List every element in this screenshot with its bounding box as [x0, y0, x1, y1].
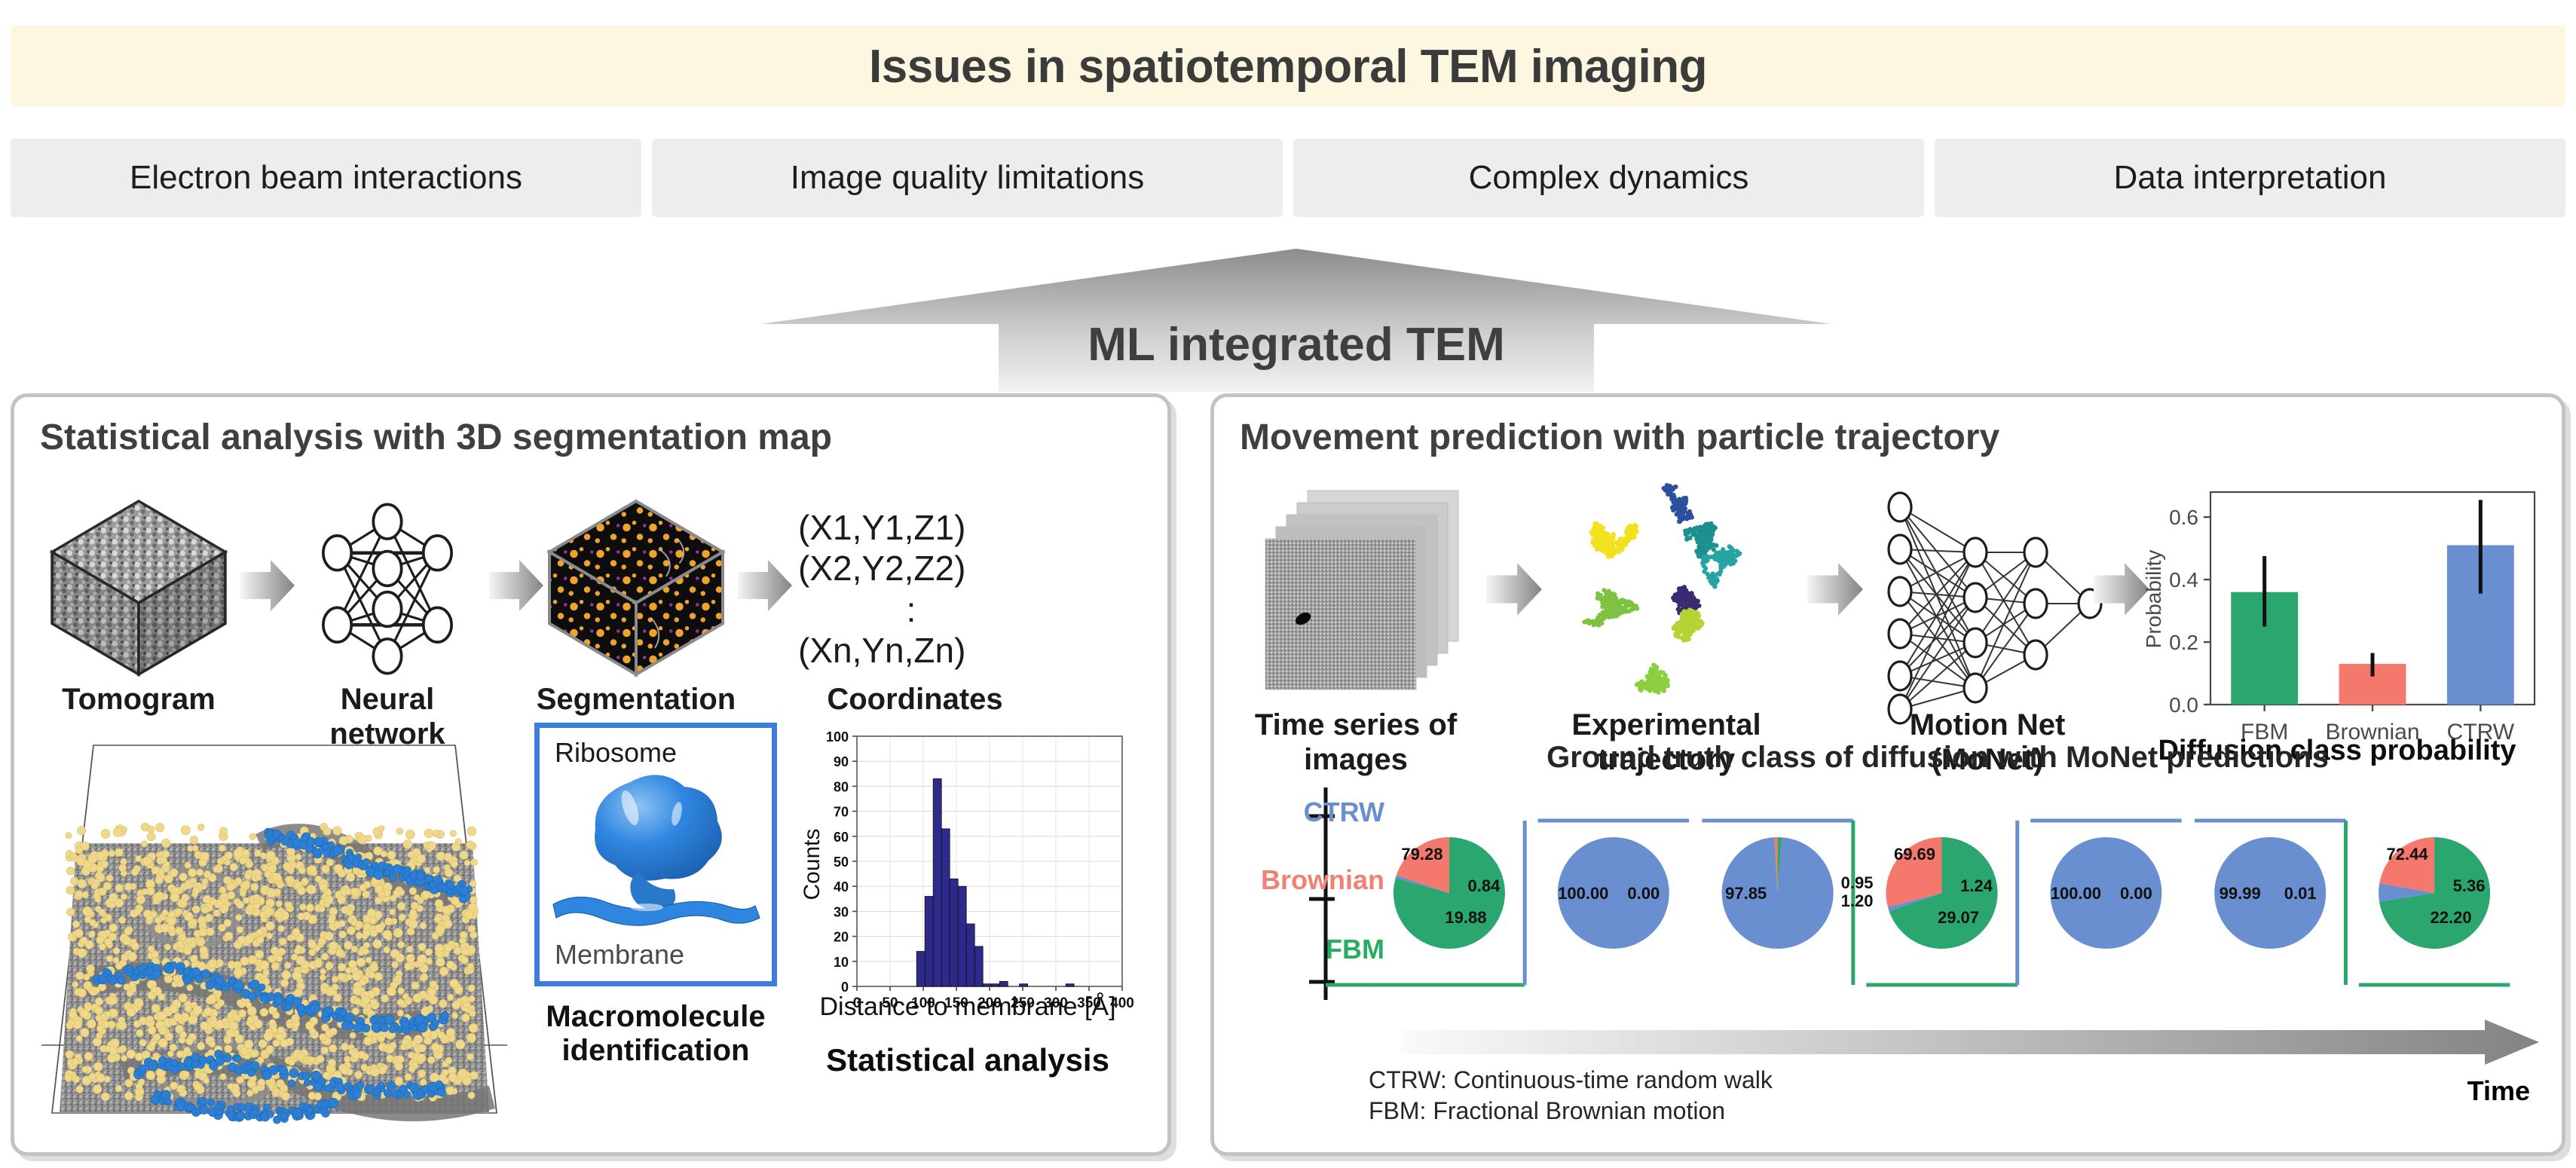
abbreviation-legend: CTRW: Continuous-time random walk FBM: F…: [1369, 1065, 1773, 1127]
issue-label: Image quality limitations: [791, 159, 1145, 197]
segmentation-cube-icon: [542, 494, 730, 682]
ribosome-inset-box: Ribosome: [534, 723, 777, 986]
3d-volume-render-icon: [37, 721, 512, 1143]
timeline-axis-label-brownian: Brownian: [1211, 864, 1384, 896]
svg-text:1.20: 1.20: [1841, 891, 1874, 910]
diffusion-class-probability-chart: 0.00.20.40.6 FBMBrownianCTRW Probability: [2128, 486, 2550, 757]
svg-text:72.44: 72.44: [2387, 845, 2429, 864]
svg-text:0.95: 0.95: [1841, 873, 1874, 892]
pipeline-label-coordinates: Coordinates: [791, 682, 1039, 717]
page-title: Issues in spatiotemporal TEM imaging: [869, 40, 1707, 93]
arrow-right-icon: [738, 557, 792, 614]
panel-statistical-analysis: Statistical analysis with 3D segmentatio…: [11, 393, 1171, 1156]
issue-label: Data interpretation: [2114, 159, 2387, 197]
issue-label: Electron beam interactions: [130, 159, 522, 197]
svg-text:90: 90: [834, 754, 849, 769]
issues-row: Electron beam interactions Image quality…: [11, 139, 2565, 217]
timeline-axis-label-fbm: FBM: [1211, 934, 1384, 965]
svg-text:29.07: 29.07: [1938, 908, 1979, 927]
arrow-right-icon: [1485, 560, 1543, 619]
svg-text:70: 70: [834, 805, 849, 820]
arrow-right-icon: [489, 557, 543, 614]
timeline-title: Ground truth class of diffusion with MoN…: [1350, 741, 2526, 775]
tomogram-cube-icon: [44, 494, 233, 682]
time-arrow-icon: [1401, 1020, 2539, 1065]
left-panel-title: Statistical analysis with 3D segmentatio…: [40, 417, 832, 458]
svg-text:50: 50: [834, 855, 849, 870]
coordinate-line-n: (Xn,Yn,Zn): [798, 630, 1122, 671]
svg-text:69.69: 69.69: [1894, 845, 1935, 864]
distance-histogram-chart: 050100150200250300350400 010203040506070…: [798, 721, 1137, 1023]
neural-network-icon: [1867, 480, 2108, 714]
svg-text:80: 80: [834, 779, 849, 794]
panel-movement-prediction: Movement prediction with particle trajec…: [1210, 393, 2565, 1156]
statistical-analysis-caption: Statistical analysis: [776, 1042, 1160, 1078]
arrow-right-icon: [1807, 560, 1864, 619]
neural-network-icon: [293, 497, 482, 681]
abbrev-ctrw: CTRW: Continuous-time random walk: [1369, 1065, 1773, 1096]
right-panel-title: Movement prediction with particle trajec…: [1240, 417, 1999, 458]
svg-text:99.99: 99.99: [2220, 884, 2261, 903]
bar-ylabel: Probability: [2142, 550, 2165, 649]
trajectory-scatter-icon: [1546, 482, 1794, 715]
issue-box-image-quality[interactable]: Image quality limitations: [652, 139, 1283, 217]
svg-text:10: 10: [834, 955, 849, 970]
svg-text:22.20: 22.20: [2431, 908, 2472, 927]
svg-text:0.0: 0.0: [2169, 693, 2198, 717]
svg-text:0.6: 0.6: [2169, 506, 2198, 529]
svg-text:60: 60: [834, 830, 849, 845]
coordinate-ellipsis: :: [798, 589, 1024, 630]
arrow-right-icon: [240, 557, 295, 614]
svg-text:100.00: 100.00: [1558, 884, 1608, 903]
svg-text:0.4: 0.4: [2169, 568, 2198, 592]
figure-root: Issues in spatiotemporal TEM imaging Ele…: [0, 0, 2576, 1168]
svg-text:1.24: 1.24: [1960, 876, 1993, 895]
svg-text:30: 30: [834, 904, 849, 919]
svg-text:0.01: 0.01: [2284, 884, 2317, 903]
time-axis-label: Time: [2467, 1075, 2530, 1107]
coordinate-line-2: (X2,Y2,Z2): [798, 548, 1122, 589]
coordinate-line-1: (X1,Y1,Z1): [798, 507, 1122, 548]
title-banner: Issues in spatiotemporal TEM imaging: [11, 26, 2565, 107]
pipeline-label-tomogram: Tomogram: [37, 682, 240, 717]
svg-text:0.00: 0.00: [1627, 884, 1660, 903]
svg-text:97.85: 97.85: [1725, 884, 1767, 903]
svg-text:100: 100: [826, 729, 849, 745]
membrane-label: Membrane: [555, 939, 684, 971]
image-stack-icon: [1244, 486, 1470, 705]
svg-text:0.2: 0.2: [2169, 631, 2198, 654]
svg-text:0.00: 0.00: [2120, 884, 2152, 903]
issue-label: Complex dynamics: [1469, 159, 1749, 197]
ml-banner-label: ML integrated TEM: [761, 318, 1831, 371]
svg-text:100.00: 100.00: [2051, 884, 2101, 903]
svg-text:79.28: 79.28: [1401, 845, 1442, 864]
issue-box-data-interpretation[interactable]: Data interpretation: [1935, 139, 2565, 217]
svg-text:19.88: 19.88: [1445, 908, 1486, 927]
svg-text:20: 20: [834, 930, 849, 945]
hist-ylabel: Counts: [800, 828, 825, 900]
svg-text:40: 40: [834, 879, 849, 894]
issue-box-electron-beam[interactable]: Electron beam interactions: [11, 139, 641, 217]
ml-integrated-tem-banner: ML integrated TEM: [761, 249, 1831, 392]
abbrev-fbm: FBM: Fractional Brownian motion: [1369, 1096, 1773, 1127]
monet-prediction-timeline: 79.280.8419.88100.000.0097.850.951.2069.…: [1235, 774, 2547, 1030]
issue-box-complex-dynamics[interactable]: Complex dynamics: [1293, 139, 1924, 217]
svg-text:0.84: 0.84: [1468, 876, 1501, 895]
svg-text:5.36: 5.36: [2453, 876, 2486, 895]
coordinate-list-icon: (X1,Y1,Z1) (X2,Y2,Z2) : (Xn,Yn,Zn): [798, 507, 1122, 671]
timeline-axis-label-ctrw: CTRW: [1211, 797, 1384, 828]
macromolecule-identification-caption: Macromolecule identification: [512, 1000, 800, 1068]
hist-xlabel: Distance to membrane [Å]: [776, 992, 1160, 1022]
ribosome-3d-icon: [540, 760, 770, 948]
